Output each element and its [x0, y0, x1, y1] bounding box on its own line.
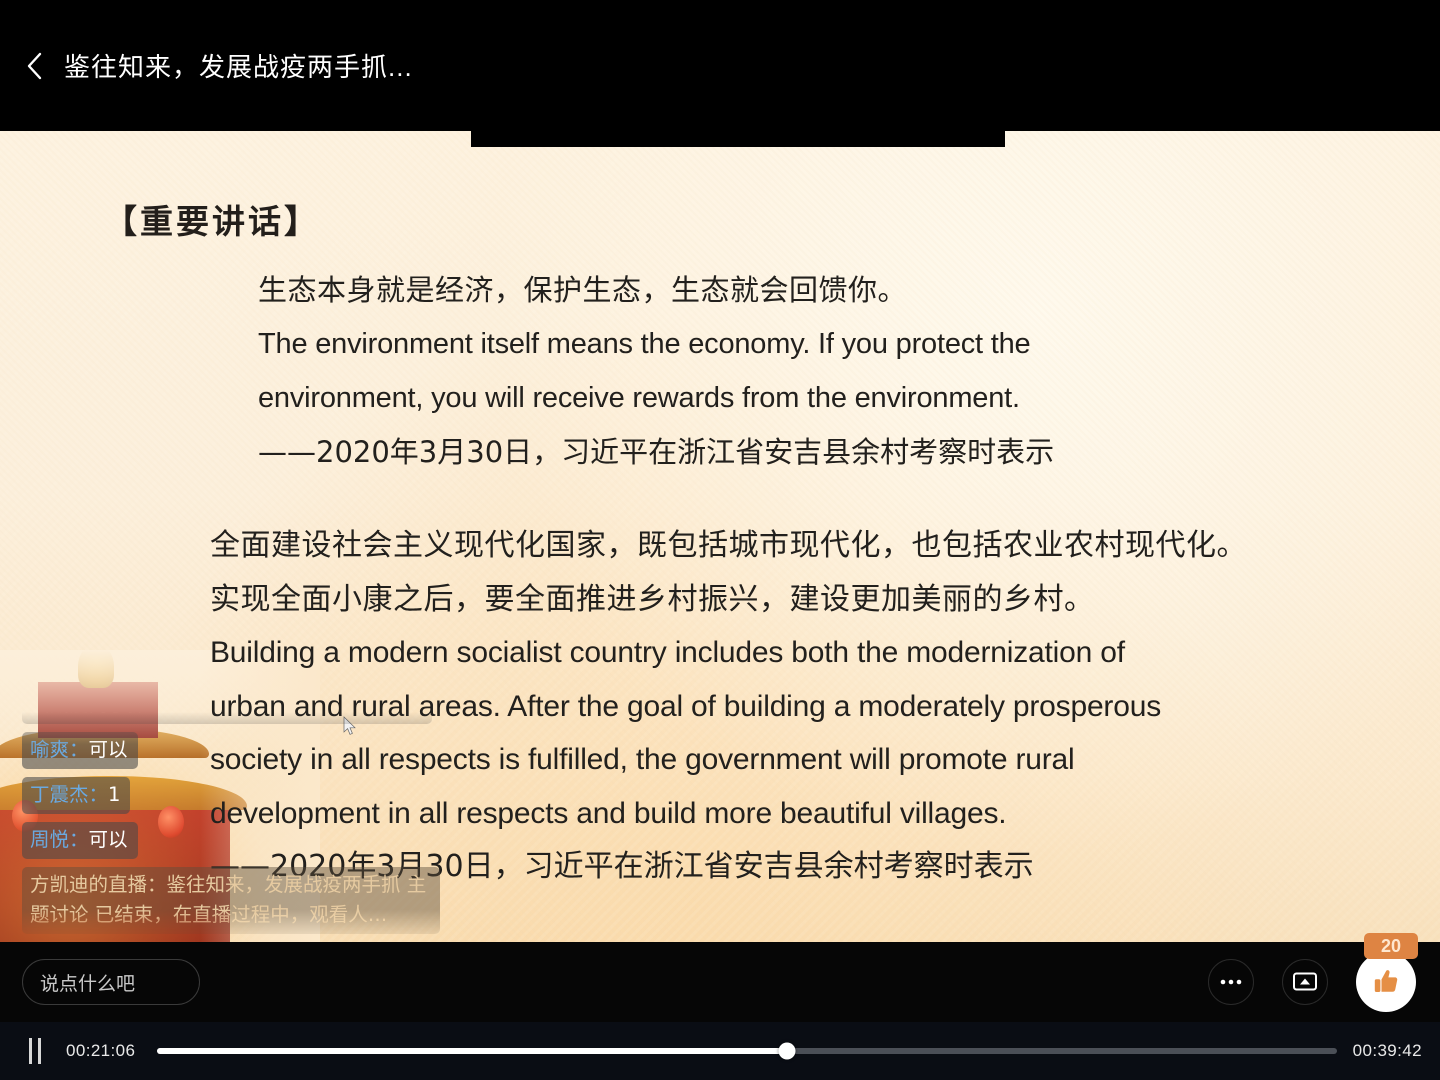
- screen-notch: [471, 131, 1005, 147]
- chat-text: 可以: [89, 828, 128, 851]
- like-button[interactable]: [1356, 952, 1416, 1012]
- quote-line: environment, you will receive rewards fr…: [258, 371, 1288, 425]
- like-control: 20: [1356, 952, 1416, 1012]
- quote-line: 生态本身就是经济，保护生态，生态就会回馈你。: [258, 263, 1288, 317]
- quote-line: 实现全面小康之后，要全面推进乡村振兴，建设更加美丽的乡村。: [210, 573, 1280, 627]
- cast-screen-icon: [1292, 971, 1318, 993]
- cast-screen-button[interactable]: [1282, 959, 1328, 1005]
- quote-block-one: 生态本身就是经济，保护生态，生态就会回馈你。 The environment i…: [258, 263, 1288, 479]
- chat-username: 周悦: [30, 828, 69, 851]
- quote-line: 全面建设社会主义现代化国家，既包括城市现代化，也包括农业农村现代化。: [210, 519, 1280, 573]
- chat-separator: ：: [69, 738, 89, 761]
- page-title: 鉴往知来，发展战疫两手抓...: [64, 47, 413, 84]
- back-button[interactable]: [18, 49, 52, 83]
- chat-text: 1: [108, 783, 120, 806]
- quote-line: The environment itself means the economy…: [258, 317, 1288, 371]
- current-time-label: 00:21:06: [66, 1041, 135, 1061]
- video-stage[interactable]: 【重要讲话】 生态本身就是经济，保护生态，生态就会回馈你。 The enviro…: [0, 131, 1440, 942]
- top-header-bar: 鉴往知来，发展战疫两手抓...: [0, 0, 1440, 131]
- ellipsis-icon: [1219, 978, 1243, 986]
- live-replay-player: 鉴往知来，发展战疫两手抓... 【重要讲话】 生态本身就是经济，保护生态，生态就…: [0, 0, 1440, 1080]
- chevron-left-icon: [25, 50, 45, 82]
- chat-separator: ：: [89, 783, 109, 806]
- chat-message: 丁震杰：1: [22, 777, 130, 814]
- pause-icon: [38, 1038, 41, 1064]
- action-bar: 说点什么吧 20: [0, 942, 1440, 1022]
- pause-button[interactable]: [22, 1037, 48, 1065]
- thumbs-up-icon: [1370, 966, 1402, 998]
- pause-icon: [29, 1038, 32, 1064]
- chat-system-message: 方凯迪的直播：鉴往知来，发展战疫两手抓 主题讨论 已结束，在直播过程中，观看人…: [22, 867, 440, 934]
- chat-text: 方凯迪的直播：鉴往知来，发展战疫两手抓 主题讨论 已结束，在直播过程中，观看人…: [30, 873, 426, 926]
- quote-line: Building a modern socialist country incl…: [210, 626, 1280, 680]
- seek-progress-fill: [157, 1048, 787, 1054]
- chat-text: 欢迎大家来观看直播“鉴往知来，发展战疫两手抓 主题讨论”: [30, 712, 411, 716]
- quote-source: ——2020年3月30日，习近平在浙江省安吉县余村考察时表示: [258, 425, 1288, 479]
- chat-username: 喻爽: [30, 738, 69, 761]
- seek-track[interactable]: [157, 1048, 1336, 1054]
- player-progress-bar: 00:21:06 00:39:42: [0, 1022, 1440, 1080]
- chat-message: 喻爽：可以: [22, 732, 138, 769]
- slide-heading: 【重要讲话】: [104, 195, 320, 243]
- comment-input[interactable]: 说点什么吧: [22, 959, 200, 1005]
- like-count-badge: 20: [1364, 933, 1418, 959]
- chat-text: 可以: [89, 738, 128, 761]
- total-time-label: 00:39:42: [1353, 1041, 1422, 1061]
- chat-separator: ：: [69, 828, 89, 851]
- chat-message: 方凯迪：欢迎大家来观看直播“鉴往知来，发展战疫两手抓 主题讨论”: [22, 712, 432, 724]
- chat-username: 丁震杰: [30, 783, 89, 806]
- live-chat-overlay[interactable]: 方凯迪：欢迎大家来观看直播“鉴往知来，发展战疫两手抓 主题讨论” 喻爽：可以 丁…: [0, 712, 440, 942]
- seek-handle[interactable]: [779, 1043, 796, 1060]
- more-options-button[interactable]: [1208, 959, 1254, 1005]
- chat-message: 周悦：可以: [22, 822, 138, 859]
